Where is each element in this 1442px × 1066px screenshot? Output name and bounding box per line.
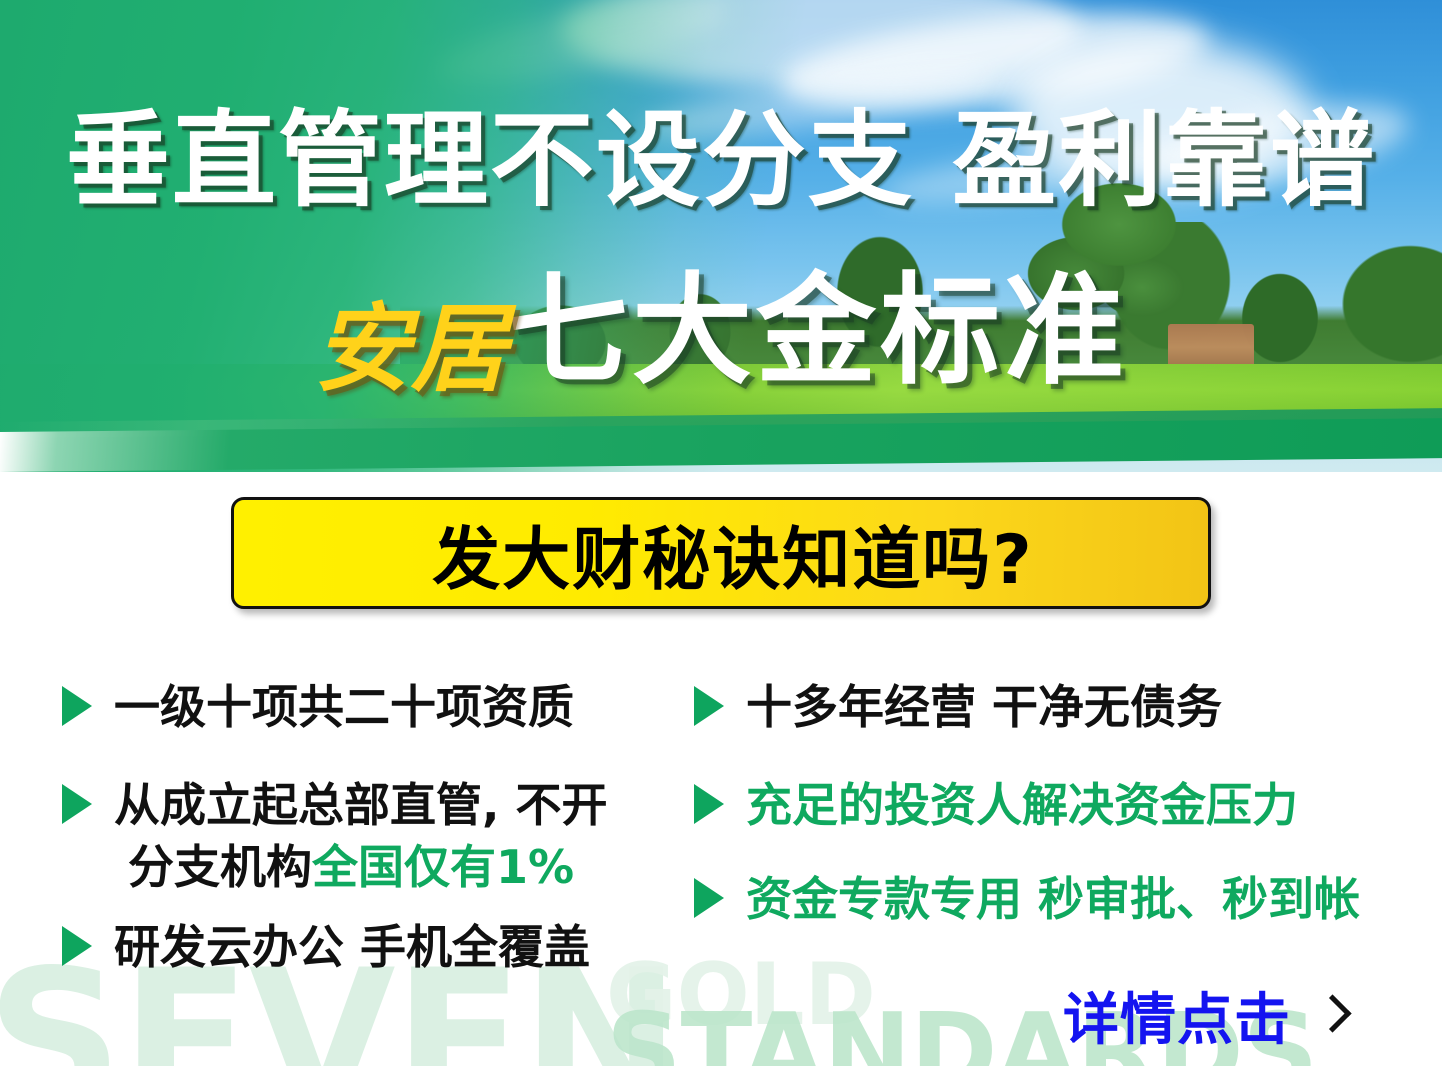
- play-triangle-icon: [694, 878, 724, 918]
- callout-banner[interactable]: 发大财秘诀知道吗?: [231, 497, 1211, 609]
- play-triangle-icon: [694, 784, 724, 824]
- details-cta-link[interactable]: 详情点击: [1063, 975, 1339, 1056]
- hero-headline: 垂直管理不设分支 盈利靠谱: [0, 108, 1442, 212]
- green-gradient-overlay: [0, 0, 1442, 472]
- feature-text: 十多年经营 干净无债务: [746, 676, 1222, 738]
- feature-text-line2: 分支机构全国仅有1%: [128, 836, 608, 898]
- play-triangle-icon: [62, 926, 92, 966]
- hero-subheadline: 安居七大金标准: [0, 272, 1442, 392]
- feature-text: 研发云办公 手机全覆盖: [114, 916, 590, 978]
- feature-text-highlight: 全国仅有1%: [312, 840, 574, 894]
- chevron-right-icon: [1317, 996, 1339, 1036]
- play-triangle-icon: [62, 686, 92, 726]
- feature-item-qualifications: 一级十项共二十项资质: [62, 676, 574, 738]
- feature-text-line2-plain: 分支机构: [128, 840, 312, 894]
- feature-item-cloud-office: 研发云办公 手机全覆盖: [62, 916, 590, 978]
- details-cta-label: 详情点击: [1063, 975, 1291, 1056]
- hero-subheadline-brand: 安居: [314, 293, 508, 405]
- feature-item-direct-management: 从成立起总部直管, 不开分支机构全国仅有1%: [62, 774, 608, 898]
- hero-subheadline-main: 七大金标准: [508, 262, 1128, 401]
- callout-text: 发大财秘诀知道吗?: [432, 504, 1033, 603]
- feature-item-dedicated-funds: 资金专款专用 秒审批、秒到帐: [694, 868, 1360, 930]
- promo-banner-page: 垂直管理不设分支 盈利靠谱 安居七大金标准 SEVEN GOLD STANDAR…: [0, 0, 1442, 1066]
- hero-banner: 垂直管理不设分支 盈利靠谱 安居七大金标准: [0, 0, 1442, 472]
- feature-item-experience: 十多年经营 干净无债务: [694, 676, 1222, 738]
- feature-text: 一级十项共二十项资质: [114, 676, 574, 738]
- feature-text: 从成立起总部直管, 不开分支机构全国仅有1%: [114, 774, 608, 898]
- feature-list: 一级十项共二十项资质 从成立起总部直管, 不开分支机构全国仅有1% 研发云办公 …: [0, 646, 1442, 1026]
- play-triangle-icon: [694, 686, 724, 726]
- play-triangle-icon: [62, 784, 92, 824]
- feature-text-line1: 从成立起总部直管, 不开: [114, 778, 608, 832]
- feature-text: 充足的投资人解决资金压力: [746, 774, 1298, 836]
- feature-text: 资金专款专用 秒审批、秒到帐: [746, 868, 1360, 930]
- feature-item-investors: 充足的投资人解决资金压力: [694, 774, 1298, 836]
